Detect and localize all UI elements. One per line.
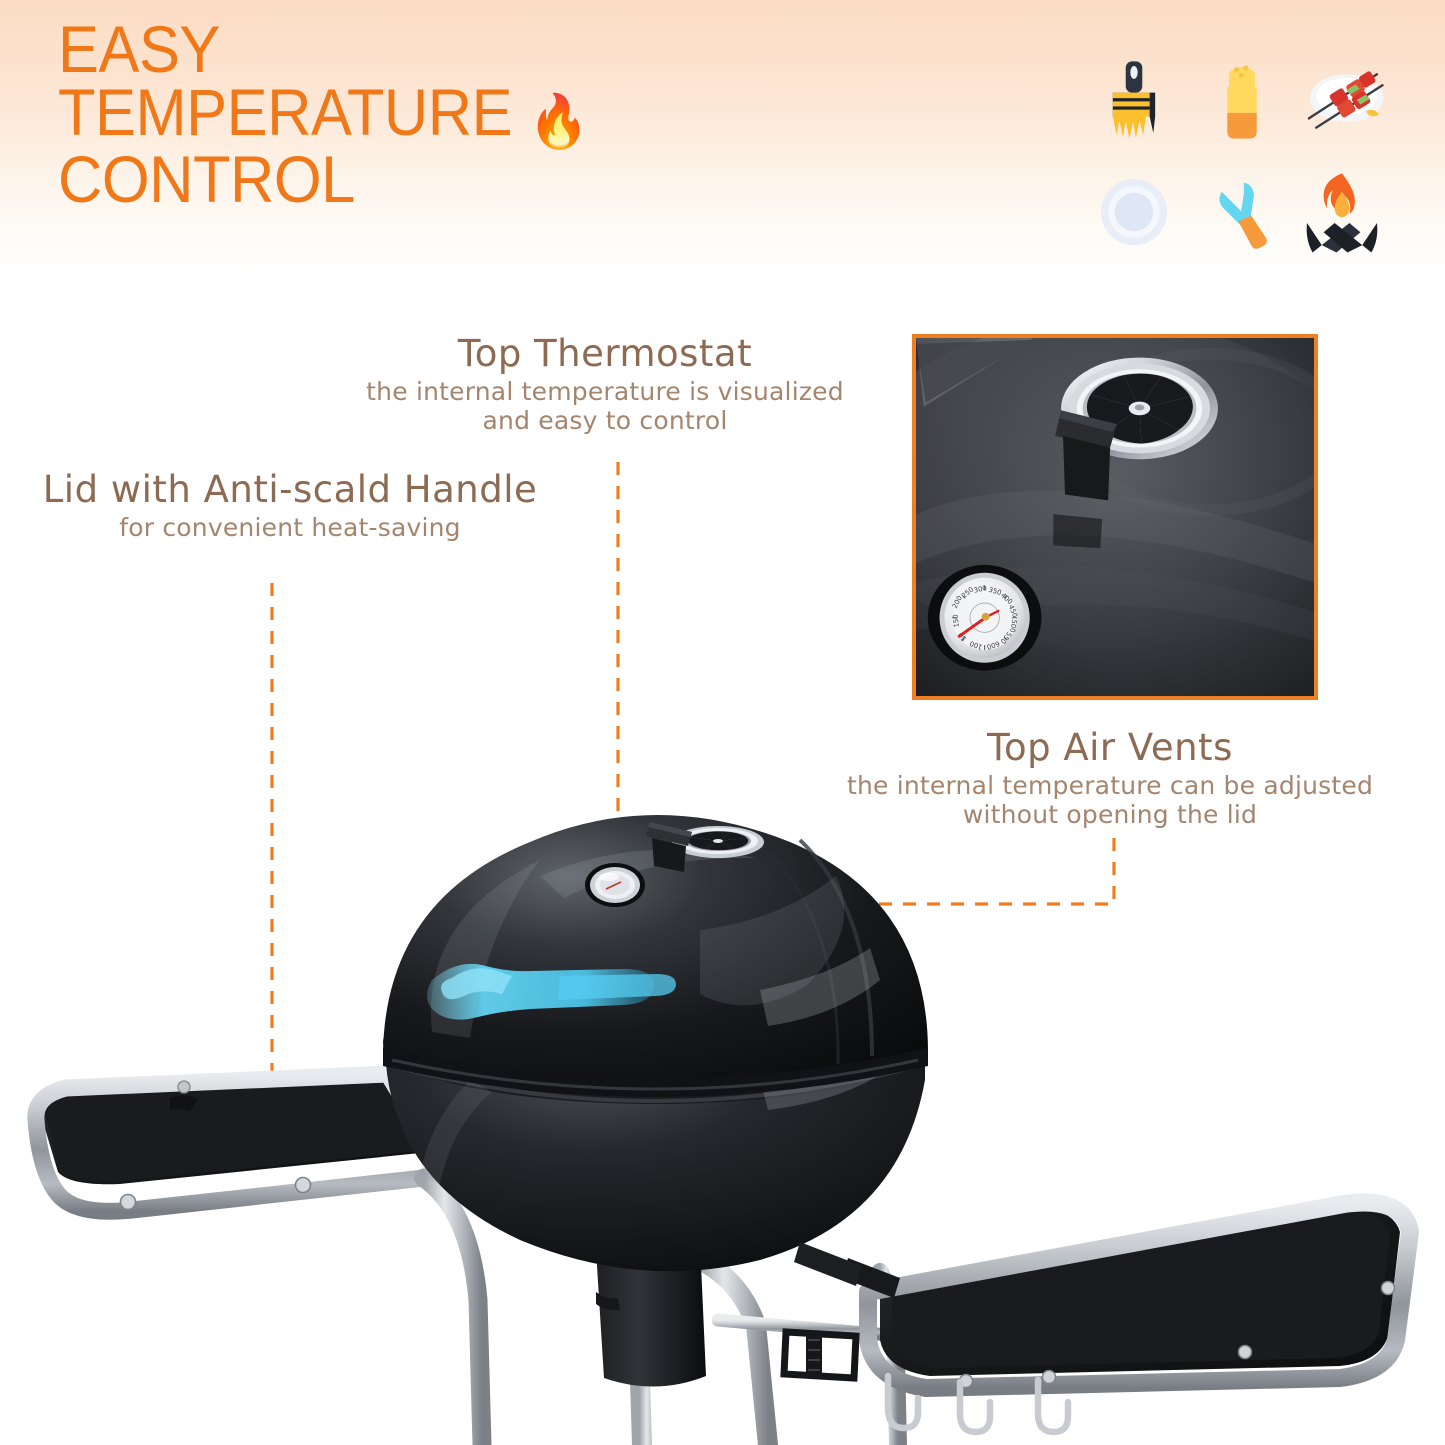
title-line-3: CONTROL [58,142,355,216]
callout-lid-desc: for convenient heat-saving [10,513,570,543]
callout-vents-title: Top Air Vents [790,728,1430,768]
height-adjust-bracket [784,1332,856,1378]
right-side-table [784,1203,1410,1432]
page-title: EASYTEMPERATURE 🔥CONTROL [58,18,709,212]
title-line-2: TEMPERATURE [58,75,512,149]
kebab-plate-icon [1296,54,1388,146]
basting-brush-icon [1088,54,1180,146]
svg-text:150: 150 [951,614,960,628]
lid-thermometer [585,863,645,907]
charcoal-kettle-grill [0,780,1445,1445]
callout-lid-title: Lid with Anti-scald Handle [10,470,570,510]
infographic-canvas: EASYTEMPERATURE 🔥CONTROL [0,0,1445,1445]
callout-thermostat: Top Thermostat the internal temperature … [300,334,910,436]
callout-lid: Lid with Anti-scald Handle for convenien… [10,470,570,542]
bbq-icon-cluster [1082,48,1412,258]
tongs-icon [1196,166,1288,258]
grill-lid [383,815,928,1097]
flame-icon: 🔥 [529,93,589,151]
callout-thermostat-title: Top Thermostat [300,334,910,374]
lid-detail-photo: 200 250 300 350 400 450 500 550 600 100 … [912,334,1318,700]
seasoning-shaker-icon [1196,54,1288,146]
campfire-icon [1296,166,1388,258]
callout-thermostat-desc: the internal temperature is visualized a… [300,377,910,436]
plate-icon [1088,166,1180,258]
